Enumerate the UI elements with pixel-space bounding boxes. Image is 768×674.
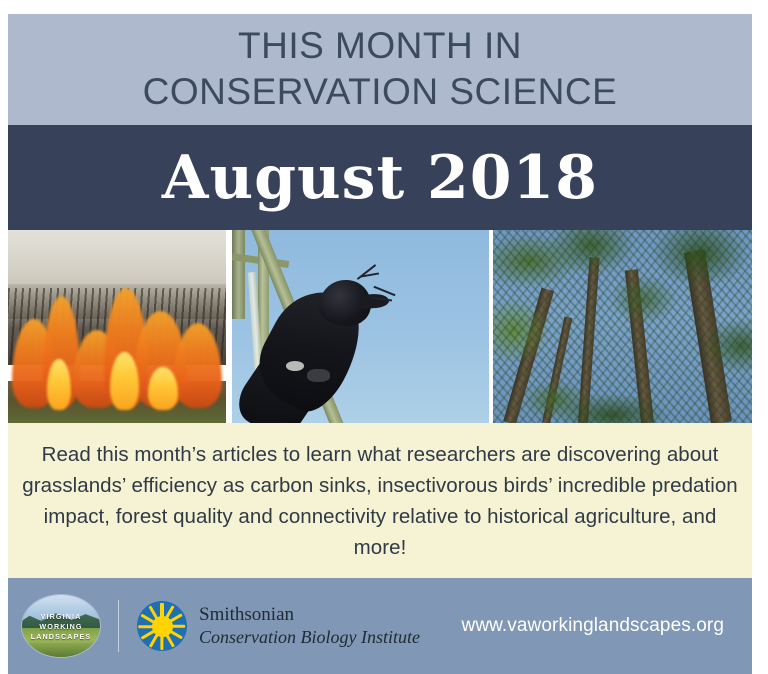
poster-header: THIS MONTH IN CONSERVATION SCIENCE — [8, 14, 752, 125]
smithsonian-name: Smithsonian — [199, 604, 420, 626]
logo-text-line-3: LANDSCAPES — [31, 632, 92, 641]
logo-text-line-2: WORKING — [39, 622, 82, 631]
smithsonian-wordmark[interactable]: Smithsonian Conservation Biology Institu… — [199, 604, 420, 648]
footer-divider — [118, 600, 119, 652]
photo-strip — [8, 230, 752, 423]
smithsonian-sun-icon — [137, 601, 187, 651]
month-title: August 2018 — [162, 146, 598, 210]
pole-post — [232, 230, 245, 319]
virginia-working-landscapes-logo[interactable]: VIRGINIA WORKING LANDSCAPES — [22, 595, 100, 657]
footer-logos: VIRGINIA WORKING LANDSCAPES — [22, 595, 420, 657]
body-copy-text: Read this month’s articles to learn what… — [22, 439, 738, 563]
bird-on-pole-photo — [232, 230, 489, 423]
body-copy-band: Read this month’s articles to learn what… — [8, 423, 752, 578]
newsletter-poster: THIS MONTH IN CONSERVATION SCIENCE Augus… — [8, 14, 752, 674]
poster-footer: VIRGINIA WORKING LANDSCAPES — [8, 578, 752, 674]
page-title-line-2: CONSERVATION SCIENCE — [143, 69, 618, 115]
bird-foot — [307, 369, 330, 383]
month-banner: August 2018 — [8, 125, 752, 230]
bird-wing-highlight — [286, 361, 304, 371]
logo-text-line-1: VIRGINIA — [41, 612, 82, 621]
smithsonian-unit-name: Conservation Biology Institute — [199, 626, 420, 648]
page-title-line-1: THIS MONTH IN — [238, 23, 522, 69]
forest-canopy-photo — [493, 230, 752, 423]
canopy-speckle-layer — [493, 230, 752, 423]
website-url[interactable]: www.vaworkinglandscapes.org — [462, 615, 735, 637]
logo-text: VIRGINIA WORKING LANDSCAPES — [22, 595, 100, 657]
prescribed-burn-photo — [8, 230, 226, 423]
sun-core — [152, 616, 173, 637]
